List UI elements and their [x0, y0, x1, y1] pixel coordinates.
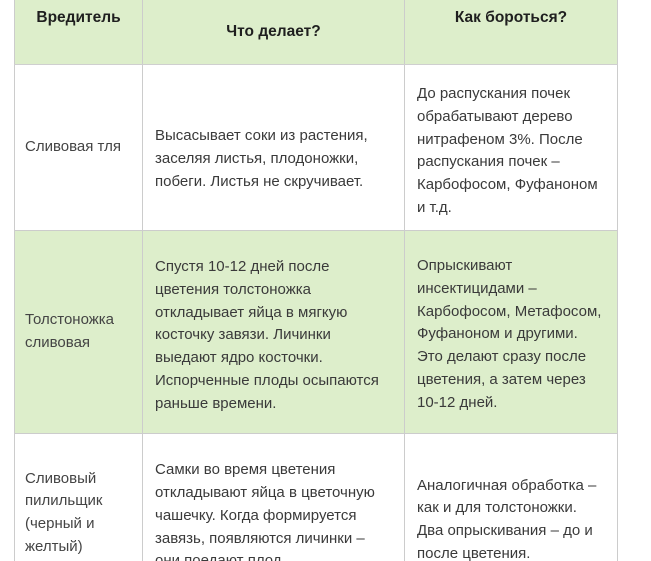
pest-comparison-table: Вредитель Что делает? Как бороться? Слив…	[14, 0, 618, 561]
pest-behavior-text: Спустя 10-12 дней после цветения толстон…	[155, 256, 392, 416]
pest-behavior-text: Высасывает соки из растения, заселяя лис…	[155, 125, 392, 193]
pest-behavior-text: Самки во время цветения откладывают яйца…	[155, 459, 392, 561]
cell-pest-behavior: Высасывает соки из растения, заселяя лис…	[143, 65, 405, 231]
table-row: Сливовый пилильщик (черный и желтый) Сам…	[15, 433, 618, 561]
pest-name-text: Сливовый пилильщик (черный и желтый)	[25, 468, 128, 559]
pest-table-container: Вредитель Что делает? Как бороться? Слив…	[14, 0, 617, 561]
cell-pest-behavior: Спустя 10-12 дней после цветения толстон…	[143, 230, 405, 433]
pest-treatment-text: Опрыскивают инсектицидами – Карбофосом, …	[417, 255, 605, 415]
cell-pest-name: Сливовый пилильщик (черный и желтый)	[15, 433, 143, 561]
table-header-row: Вредитель Что делает? Как бороться?	[15, 0, 618, 65]
table-header: Вредитель Что делает? Как бороться?	[15, 0, 618, 65]
pest-name-text: Толстоножка сливовая	[25, 309, 128, 355]
table-body: Сливовая тля Высасывает соки из растения…	[15, 65, 618, 561]
cell-pest-treatment: Опрыскивают инсектицидами – Карбофосом, …	[405, 230, 618, 433]
cell-pest-behavior: Самки во время цветения откладывают яйца…	[143, 433, 405, 561]
cell-pest-treatment: До распускания почек обрабатывают дерево…	[405, 65, 618, 231]
pest-treatment-text: Аналогичная обработка – как и для толсто…	[417, 475, 605, 561]
pest-name-text: Сливовая тля	[25, 136, 128, 159]
cell-pest-treatment: Аналогичная обработка – как и для толсто…	[405, 433, 618, 561]
table-row: Толстоножка сливовая Спустя 10-12 дней п…	[15, 230, 618, 433]
column-header-does: Что делает?	[143, 0, 405, 65]
cell-pest-name: Толстоножка сливовая	[15, 230, 143, 433]
pest-treatment-text: До распускания почек обрабатывают дерево…	[417, 83, 605, 220]
page-root: Вредитель Что делает? Как бороться? Слив…	[0, 0, 651, 561]
table-row: Сливовая тля Высасывает соки из растения…	[15, 65, 618, 231]
cell-pest-name: Сливовая тля	[15, 65, 143, 231]
column-header-fight: Как бороться?	[405, 0, 618, 65]
column-header-pest: Вредитель	[15, 0, 143, 65]
